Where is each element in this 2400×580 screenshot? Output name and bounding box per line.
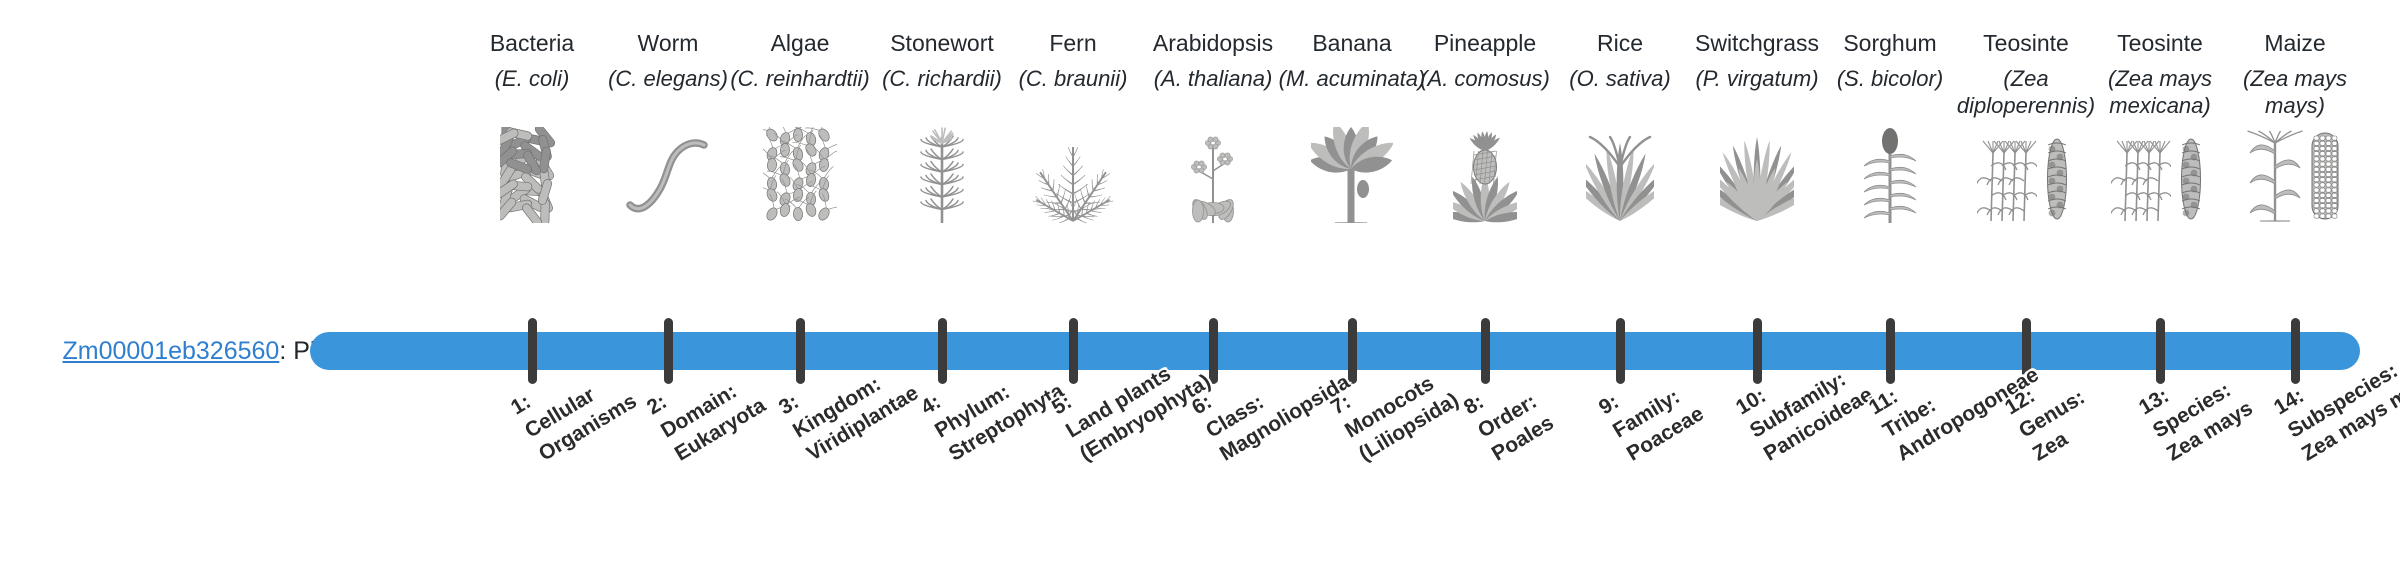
rank-text: Kingdom: Viridiplantae: [789, 372, 922, 465]
rank-number: 4:: [917, 390, 945, 419]
rank-number: 8:: [1460, 390, 1488, 419]
rank-number: 3:: [775, 390, 803, 419]
rank-text: Cellular Organisms: [521, 383, 641, 466]
rank-text: Land plants (Embryophyta): [1062, 362, 1215, 466]
rank-label-row: 1: Cellular Organisms2: Domain: Eukaryot…: [0, 0, 2400, 580]
rank-text: Monocots (Liliopsida): [1341, 372, 1463, 466]
rank-text: Subfamily: Panicoideae: [1746, 368, 1877, 466]
rank-number: 6:: [1188, 390, 1216, 419]
rank-number: 5:: [1048, 390, 1076, 419]
rank-text: Class: Magnoliopsida: [1202, 370, 1354, 465]
phylostratigraphy-figure: Zm00001eb326560: Phylostratum 1 Bacteria…: [0, 0, 2400, 580]
rank-text: Domain: Eukaryota: [657, 380, 770, 466]
rank-number: 1:: [507, 390, 535, 419]
rank-text: Phylum: Streptophyta: [931, 379, 1068, 465]
rank-number: 2:: [643, 390, 671, 419]
rank-text: Family: Poaceae: [1609, 385, 1708, 466]
rank-text: Order: Poales: [1474, 390, 1558, 466]
rank-number: 9:: [1595, 390, 1623, 419]
rank-number: 7:: [1327, 390, 1355, 419]
